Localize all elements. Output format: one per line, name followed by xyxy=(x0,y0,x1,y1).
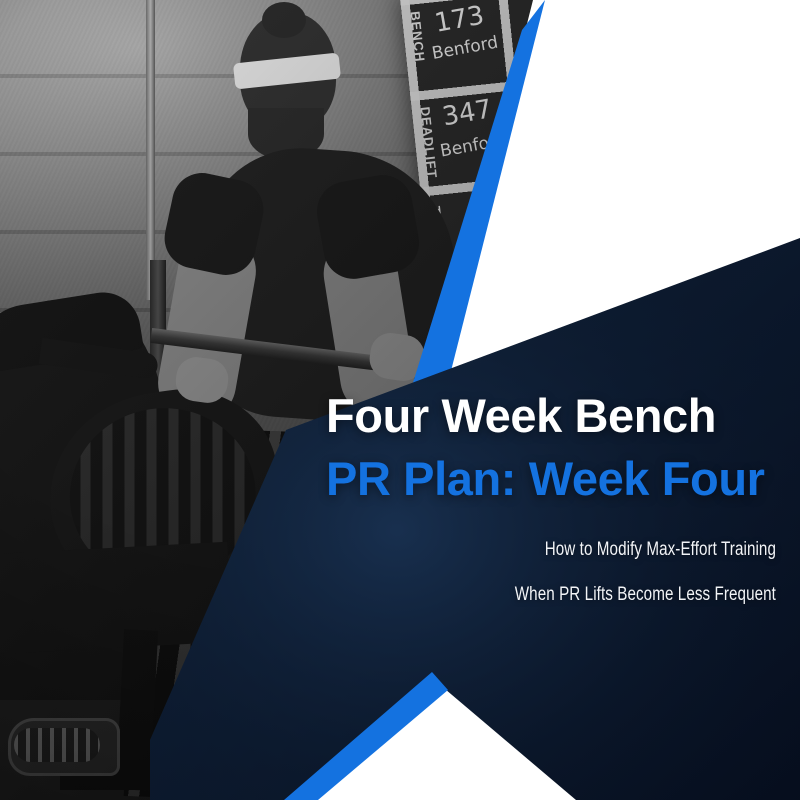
subtitle-line-1: How to Modify Max-Effort Training xyxy=(416,540,776,559)
headline-block: Four Week Bench PR Plan: Week Four xyxy=(326,392,786,502)
headline-line-1: Four Week Bench xyxy=(326,392,786,439)
subtitle-line-2: When PR Lifts Become Less Frequent xyxy=(416,585,776,604)
headline-line-2: PR Plan: Week Four xyxy=(326,455,786,502)
poster-canvas: BENCH DEADLIFT TOTAL 173 Benford Sim 347… xyxy=(0,0,800,800)
subtitle-block: How to Modify Max-Effort Training When P… xyxy=(326,540,776,604)
